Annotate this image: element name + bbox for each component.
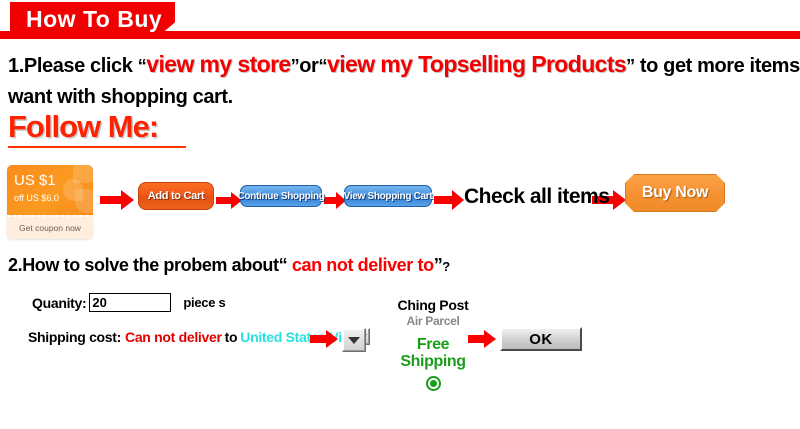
cannot-deliver-highlight: can not deliver to [292, 255, 434, 275]
radio-selected-dot-icon [430, 380, 437, 387]
link-view-my-topselling-products[interactable]: view my Topselling Products [327, 51, 626, 77]
ok-button[interactable]: OK [500, 327, 582, 351]
follow-me-heading: Follow Me: [8, 110, 188, 144]
page-title: How To Buy [26, 4, 162, 34]
quote-close-2: ” [626, 56, 635, 76]
shipping-cost-label: Shipping cost: [28, 329, 121, 345]
carrier-price-line-1: Free [417, 336, 449, 353]
quantity-label: Quanity: [32, 295, 86, 311]
get-coupon-now-button[interactable]: Get coupon now [7, 217, 93, 239]
coupon-card-top: US $1 off US $6.0 [7, 165, 93, 215]
coupon-amount: US $1 [14, 172, 56, 189]
follow-me-section: Follow Me: [8, 110, 188, 148]
destination-dropdown-large[interactable] [342, 328, 366, 352]
flow-arrow-4-icon [434, 190, 464, 210]
step2-prefix: 2.How to solve the probem about [8, 255, 279, 275]
instruction-step-1-line-2: want with shopping cart. [8, 86, 233, 109]
shipping-arrow-1-icon [310, 330, 338, 348]
instruction-step-1: 1.Please click “view my store”or“view my… [8, 48, 796, 83]
page-header: How To Buy [0, 0, 800, 40]
follow-me-divider [8, 146, 186, 148]
carrier-price-line-2: Shipping [400, 353, 465, 370]
chevron-down-icon [348, 337, 360, 344]
continue-shopping-button[interactable]: Continue Shopping [240, 185, 322, 207]
quote-open-3: “ [279, 255, 288, 275]
shipping-error-text: Can not deliver [125, 329, 222, 345]
quantity-input[interactable] [89, 293, 171, 312]
carrier-radio-button[interactable] [426, 376, 441, 391]
shipping-arrow-2-icon [468, 330, 496, 348]
or-text: or [299, 55, 318, 77]
coupon-card[interactable]: US $1 off US $6.0 Get coupon now [7, 165, 93, 239]
carrier-name: Ching Post [378, 298, 488, 313]
view-shopping-cart-button[interactable]: View Shopping Cart [344, 185, 432, 207]
quantity-unit-label: piece s [183, 295, 225, 310]
step1-suffix: to get more items you [640, 55, 800, 77]
question-mark: ? [442, 259, 450, 274]
carrier-service: Air Parcel [378, 314, 488, 328]
coupon-condition: off US $6.0 [14, 193, 59, 203]
instruction-step-2: 2.How to solve the probem about“ can not… [8, 255, 450, 276]
flow-arrow-1-icon [100, 190, 134, 210]
coupon-decoration-shape [75, 189, 93, 213]
quote-open-1: “ [138, 56, 147, 76]
add-to-cart-button[interactable]: Add to Cart [138, 182, 214, 210]
shipping-to-text: to [225, 329, 238, 345]
buy-now-button[interactable]: Buy Now [625, 174, 725, 212]
check-all-items-label: Check all items [464, 185, 609, 209]
quantity-row: Quanity: piece s [32, 293, 225, 312]
step1-prefix: 1.Please click [8, 55, 133, 77]
quote-close-1: ” [291, 56, 300, 76]
quote-close-3: ” [434, 255, 443, 275]
quote-open-2: “ [318, 56, 327, 76]
link-view-my-store[interactable]: view my store [146, 51, 290, 77]
